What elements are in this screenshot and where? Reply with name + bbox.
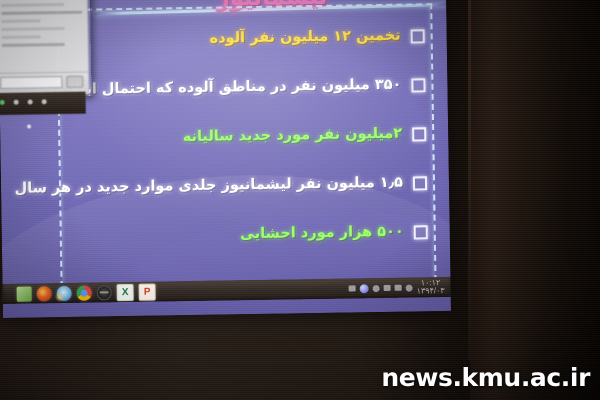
status-dot-icon xyxy=(42,99,47,104)
system-tray[interactable]: ۱۰:۱۲ ۱۳۹۴/۰۳ xyxy=(348,279,444,297)
powerpoint-icon[interactable] xyxy=(139,283,156,300)
dialog-input-field[interactable] xyxy=(0,76,62,89)
background-window-icons xyxy=(0,99,47,105)
screen-right-edge xyxy=(468,0,471,360)
square-bullet-icon xyxy=(414,225,428,239)
stray-light-dot xyxy=(27,124,31,128)
photograph-of-projection-screen: لیشمانیوز تخمین ۱۲ میلیون نفر آلوده ۳۵۰ … xyxy=(0,0,600,400)
watermark: news.kmu.ac.ir xyxy=(381,363,590,392)
clock-date: ۱۳۹۴/۰۳ xyxy=(417,286,445,295)
firefox-icon[interactable] xyxy=(37,286,52,301)
dark-circle-app-icon[interactable] xyxy=(97,285,112,300)
status-dot-icon xyxy=(0,100,5,105)
excel-icon[interactable] xyxy=(117,283,134,300)
tray-volume-icon[interactable] xyxy=(406,284,413,291)
projection-screen: لیشمانیوز تخمین ۱۲ میلیون نفر آلوده ۳۵۰ … xyxy=(0,0,451,318)
list-item[interactable]: تخمین ۱۲ میلیون نفر آلوده xyxy=(56,11,429,66)
green-app-icon[interactable] xyxy=(17,286,32,301)
dialog-text-line xyxy=(2,27,65,31)
dialog-text-line xyxy=(1,11,82,15)
taskbar-light-glow xyxy=(55,292,65,302)
bullet-text: تخمین ۱۲ میلیون نفر آلوده xyxy=(209,28,400,48)
bullet-text: ۱٫۵ میلیون نفر لیشمانیوز جلدی موارد جدید… xyxy=(15,175,404,198)
bullet-text: ۲میلیون نفر مورد جدید سالیانه xyxy=(183,126,403,146)
square-bullet-icon xyxy=(412,127,426,141)
slide-bullet-list: تخمین ۱۲ میلیون نفر آلوده ۳۵۰ میلیون نفر… xyxy=(56,11,432,262)
dialog-text-line xyxy=(1,19,40,23)
dialog-text-line xyxy=(2,35,41,39)
dialog-text-line xyxy=(2,43,65,47)
list-item[interactable]: ۵۰۰ هزار مورد احشایی xyxy=(59,207,432,262)
square-bullet-icon xyxy=(413,176,427,190)
background-window-strip xyxy=(0,92,86,115)
taskbar-clock[interactable]: ۱۰:۱۲ ۱۳۹۴/۰۳ xyxy=(416,279,444,296)
tray-icon[interactable] xyxy=(349,285,356,291)
status-dot-icon xyxy=(28,99,33,104)
list-item[interactable]: ۳۵۰ میلیون نفر در مناطق آلوده که احتمال … xyxy=(57,60,430,115)
tray-network-icon[interactable] xyxy=(395,285,402,291)
square-bullet-icon xyxy=(411,29,425,43)
status-dot-icon xyxy=(14,100,19,105)
bullet-text: ۳۵۰ میلیون نفر در مناطق آلوده که احتمال … xyxy=(36,77,402,99)
taskbar-icon-group xyxy=(17,283,156,302)
tray-blue-icon[interactable] xyxy=(360,284,369,293)
tray-icon[interactable] xyxy=(373,285,380,292)
square-bullet-icon xyxy=(411,78,425,92)
bullet-text: ۵۰۰ هزار مورد احشایی xyxy=(240,224,404,243)
wall-right-panel xyxy=(470,0,600,400)
dialog-text-line xyxy=(1,3,64,7)
blurred-document-window[interactable] xyxy=(0,0,90,95)
list-item[interactable]: ۲میلیون نفر مورد جدید سالیانه xyxy=(58,109,431,164)
dialog-button[interactable] xyxy=(66,76,83,88)
tray-icon[interactable] xyxy=(384,285,391,291)
list-item[interactable]: ۱٫۵ میلیون نفر لیشمانیوز جلدی موارد جدید… xyxy=(59,158,432,213)
chrome-icon[interactable] xyxy=(77,285,92,300)
